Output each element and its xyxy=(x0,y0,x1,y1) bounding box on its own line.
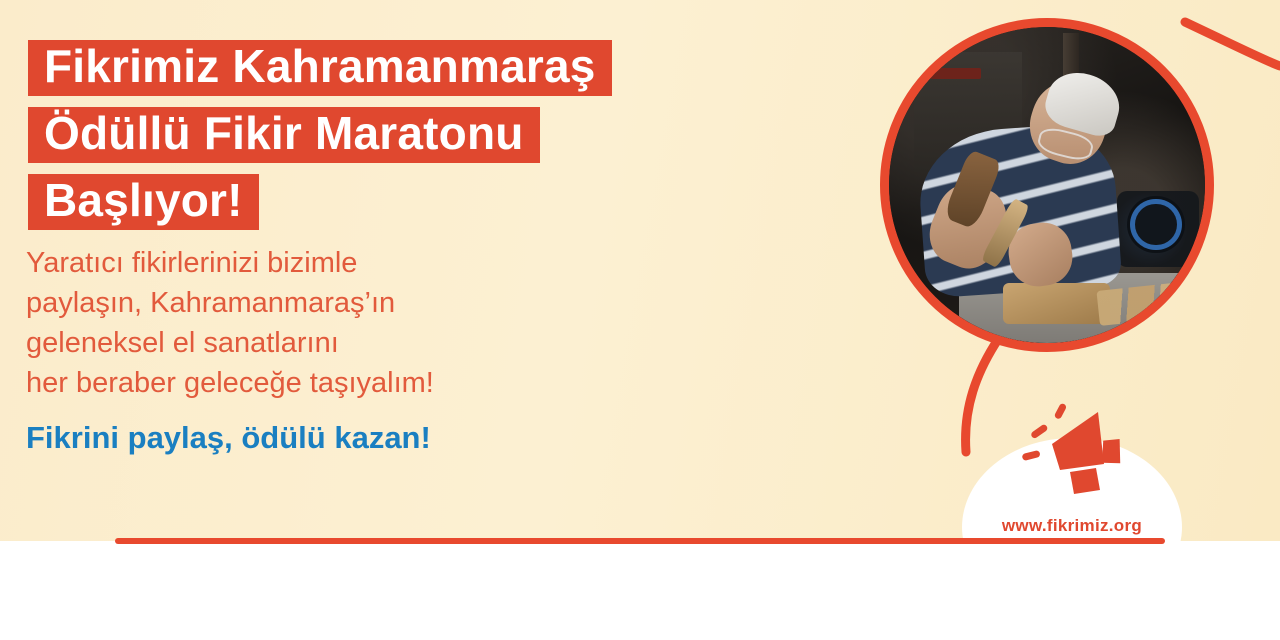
website-url[interactable]: www.fikrimiz.org xyxy=(962,516,1182,536)
tagline: Fikrini paylaş, ödülü kazan! xyxy=(26,418,431,458)
headline: Fikrimiz Kahramanmaraş Ödüllü Fikir Mara… xyxy=(28,40,612,241)
footer-divider xyxy=(115,538,1165,544)
body-line-2: paylaşın, Kahramanmaraş’ın xyxy=(26,283,666,323)
body-line-1: Yaratıcı fikirlerinizi bizimle xyxy=(26,243,666,283)
headline-line-1: Fikrimiz Kahramanmaraş xyxy=(28,40,612,96)
headline-line-2: Ödüllü Fikir Maratonu xyxy=(28,107,540,163)
headline-line-3: Başlıyor! xyxy=(28,174,259,230)
body-line-3: geleneksel el sanatlarını xyxy=(26,323,666,363)
poster-canvas: Fikrimiz Kahramanmaraş Ödüllü Fikir Mara… xyxy=(0,0,1280,640)
body-copy: Yaratıcı fikirlerinizi bizimle paylaşın,… xyxy=(26,243,666,403)
body-line-4: her beraber geleceğe taşıyalım! xyxy=(26,363,666,403)
photo-image xyxy=(889,27,1205,343)
partner-logos: geleceği paylaş fikrimiz .org xyxy=(0,548,1280,636)
circular-photo xyxy=(880,18,1214,352)
megaphone-icon xyxy=(1008,398,1138,503)
